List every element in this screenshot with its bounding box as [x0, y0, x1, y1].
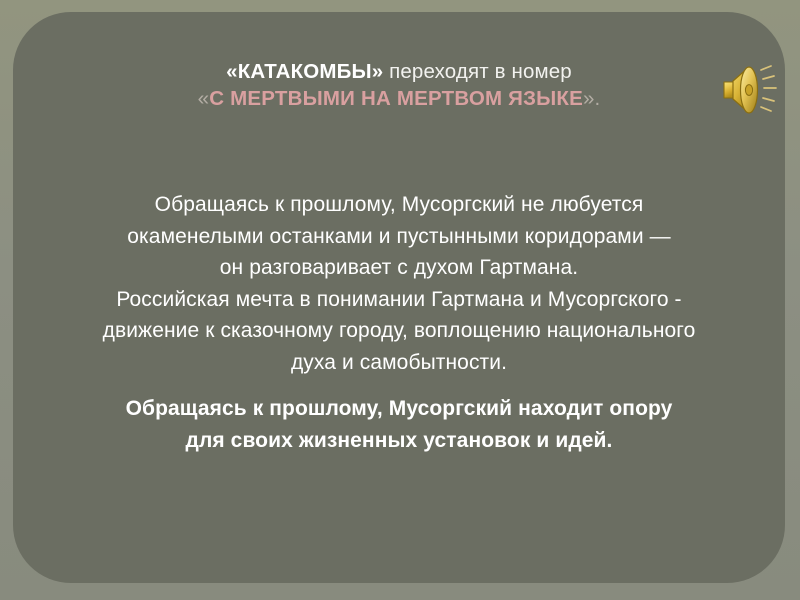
body-line: Обращаясь к прошлому, Мусоргский не любу… [13, 189, 785, 221]
body-line: Российская мечта в понимании Гартмана и … [13, 284, 785, 316]
title-line-2-close-quote: ». [583, 87, 600, 110]
body-line: духа и самобытности. [13, 347, 785, 379]
closing-paragraph: Обращаясь к прошлому, Мусоргский находит… [13, 393, 785, 456]
body-paragraph: Обращаясь к прошлому, Мусоргский не любу… [13, 189, 785, 378]
title-line-1-rest: переходят в номер [383, 60, 572, 83]
title-line-1-strong: «КАТАКОМБЫ» [226, 60, 383, 83]
closing-line: Обращаясь к прошлому, Мусоргский находит… [13, 393, 785, 425]
slide-content-panel: «КАТАКОМБЫ» переходят в номер «С МЕРТВЫМ… [13, 12, 785, 583]
title-line-2-open-quote: « [198, 87, 210, 110]
speaker-sound-icon[interactable] [718, 60, 780, 118]
closing-line: для своих жизненных установок и идей. [13, 425, 785, 457]
title-line-1: «КАТАКОМБЫ» переходят в номер [13, 59, 785, 86]
body-line: движение к сказочному городу, воплощению… [13, 315, 785, 347]
body-line: он разговаривает с духом Гартмана. [13, 252, 785, 284]
slide-root: «КАТАКОМБЫ» переходят в номер «С МЕРТВЫМ… [0, 0, 800, 600]
title-line-2-emphasis: С МЕРТВЫМИ НА МЕРТВОМ ЯЗЫКЕ [209, 87, 583, 110]
title-line-2: «С МЕРТВЫМИ НА МЕРТВОМ ЯЗЫКЕ». [13, 86, 785, 113]
slide-title: «КАТАКОМБЫ» переходят в номер «С МЕРТВЫМ… [13, 59, 785, 112]
body-line: окаменелыми останками и пустынными корид… [13, 221, 785, 253]
